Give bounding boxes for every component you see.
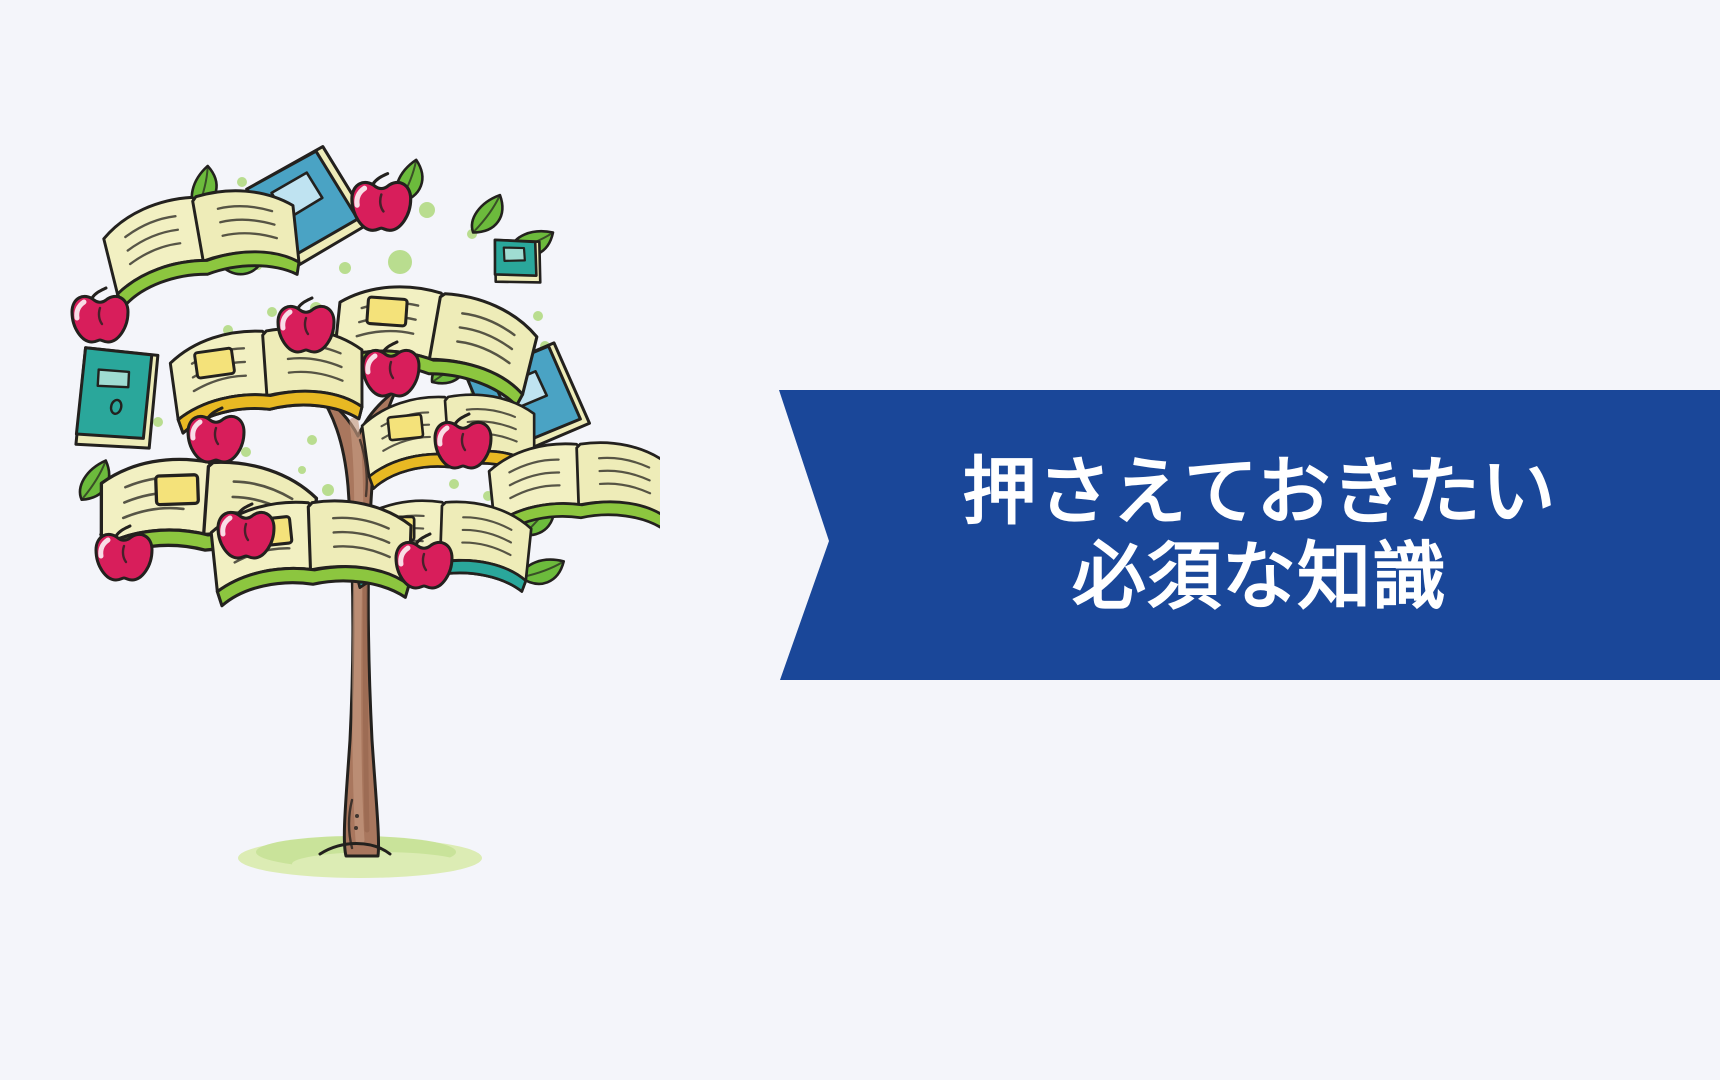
ribbon-text-block: 押さえておきたい 必須な知識 — [779, 390, 1720, 680]
ribbon-line-1: 押さえておきたい — [962, 451, 1556, 534]
knowledge-tree-illustration — [60, 140, 660, 900]
ribbon-line-2: 必須な知識 — [1072, 536, 1447, 619]
ribbon-banner: 押さえておきたい 必須な知識 — [779, 390, 1720, 680]
slide-canvas: 押さえておきたい 必須な知識 — [0, 0, 1720, 1080]
